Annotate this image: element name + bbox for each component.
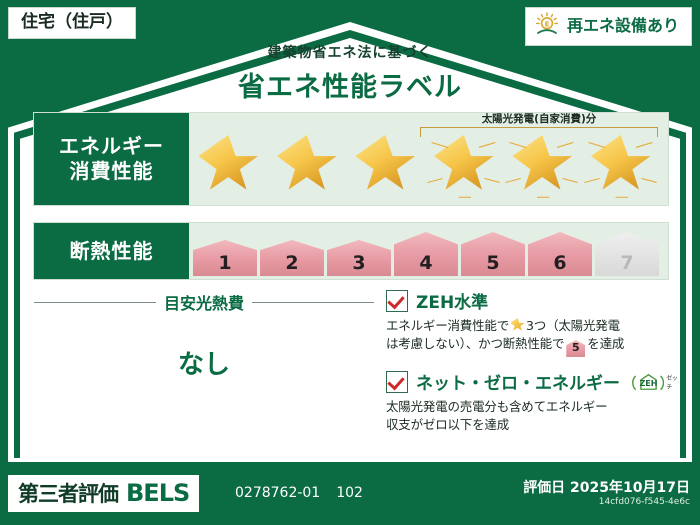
star-icon [197, 135, 259, 195]
svg-text:E: E [545, 20, 550, 28]
utility-cost-block: 目安光熱費 なし [34, 290, 374, 381]
star-rating: ＼ ／ ＼ ／ ＿ ＼ ／ ＼ ／ ＿ ＼ ／ [189, 129, 660, 201]
certificate-number-group: 0278762-01102 [235, 485, 363, 501]
star-icon [511, 135, 573, 195]
energy-label-line1: エネルギー [59, 134, 164, 159]
criteria-zeh-standard: ZEH水準 エネルギー消費性能で3つ（太陽光発電 は考慮しない）、かつ断熱性能で… [386, 288, 676, 357]
zeh-standard-header: ZEH水準 [386, 288, 676, 313]
star-item [189, 129, 268, 201]
renewable-badge-label: 再エネ設備あり [567, 17, 679, 35]
zeh-desc-part1: エネルギー消費性能で [386, 318, 509, 333]
sparkle-icon: ＿ [616, 183, 628, 200]
bels-brand-label: BELS [126, 479, 189, 507]
zeh-desc-part4: を達成 [587, 336, 624, 351]
insulation-level-item: 5 [461, 232, 525, 276]
star-item-solar: ＼ ／ ＼ ／ ＿ [582, 129, 661, 201]
rule-left [34, 302, 156, 303]
certificate-number: 0278762-01 [235, 485, 320, 501]
house-level-active-icon: 4 [394, 232, 458, 276]
building-type-tag: 住宅（住戸） [8, 7, 136, 39]
utility-cost-value: なし [34, 344, 374, 381]
star-item-solar: ＼ ／ ＼ ／ ＿ [503, 129, 582, 201]
solar-bracket: 太陽光発電(自家消費)分 [420, 114, 658, 137]
insulation-level-item: 2 [260, 240, 324, 276]
renewable-equipment-badge: E 再エネ設備あり [525, 7, 692, 46]
insulation-level-item: 1 [193, 240, 257, 276]
sparkle-icon: ／ [560, 171, 581, 190]
footer-bar: 第三者評価 BELS 0278762-01102 評価日 2025年10月17日… [0, 463, 700, 525]
star-icon [433, 135, 495, 195]
solar-bracket-label: 太陽光発電(自家消費)分 [420, 114, 658, 126]
evaluation-date: 評価日 2025年10月17日 [523, 477, 690, 497]
rule-right [252, 302, 374, 303]
criteria-net-zero-energy: ネット・ゼロ・エネルギー ZEH ゼッチ 太陽光発電の売電分も含めてエネルギー … [386, 369, 676, 434]
insulation-level-item: 7 [595, 232, 659, 276]
bels-energy-label: 住宅（住戸） E 再エネ設備あり 建築物省エネ法に基づく [0, 0, 700, 525]
utility-cost-heading: 目安光熱費 [34, 290, 374, 314]
house-level-active-icon: 2 [260, 240, 324, 276]
net-zero-header: ネット・ゼロ・エネルギー ZEH ゼッチ [386, 369, 676, 394]
star-item [346, 129, 425, 201]
net-zero-desc-part1: 太陽光発電の売電分も含めてエネルギー [386, 399, 607, 414]
sparkle-icon: ＿ [537, 183, 549, 200]
checkbox-checked-icon[interactable] [386, 371, 408, 393]
house-level-icon: 5 [566, 340, 585, 357]
zeh-standard-title: ZEH水準 [416, 288, 488, 313]
energy-performance-body: 太陽光発電(自家消費)分 ＼ ／ ＼ ／ ＿ ＼ ／ [189, 113, 668, 205]
star-item-solar: ＼ ／ ＼ ／ ＿ [425, 129, 504, 201]
insulation-performance-row: 断熱性能 1234567 [33, 222, 669, 280]
solar-sun-icon: E [534, 12, 560, 40]
zeh-desc-part2: 3つ（太陽光発電 [526, 318, 620, 333]
insulation-level-item: 6 [528, 232, 592, 276]
net-zero-description: 太陽光発電の売電分も含めてエネルギー 収支がゼロ以下を達成 [386, 398, 676, 434]
zeh-house-logo-icon: ZEH ゼッチ [632, 370, 680, 394]
energy-performance-row: エネルギー 消費性能 太陽光発電(自家消費)分 ＼ ／ ＼ ／ ＿ [33, 112, 669, 206]
third-party-eval-label: 第三者評価 [18, 478, 118, 508]
house-level-active-icon: 3 [327, 240, 391, 276]
house-level-active-icon: 5 [461, 232, 525, 276]
sparkle-icon: ＼ [503, 171, 524, 190]
net-zero-desc-part2: 収支がゼロ以下を達成 [386, 417, 509, 432]
insulation-performance-label: 断熱性能 [34, 223, 189, 279]
solar-bracket-line [420, 127, 658, 137]
house-level-active-icon: 6 [528, 232, 592, 276]
house-level-active-icon: 1 [193, 240, 257, 276]
house-level-inactive-icon: 7 [595, 232, 659, 276]
insulation-level-item: 4 [394, 232, 458, 276]
criteria-blocks: ZEH水準 エネルギー消費性能で3つ（太陽光発電 は考慮しない）、かつ断熱性能で… [386, 288, 676, 434]
sparkle-icon: ＿ [459, 183, 471, 200]
zeh-standard-description: エネルギー消費性能で3つ（太陽光発電 は考慮しない）、かつ断熱性能で5を達成 [386, 317, 676, 357]
zeh-logo-ruby: ゼッチ [666, 373, 679, 391]
star-icon [276, 135, 338, 195]
sparkle-icon: ／ [639, 171, 660, 190]
unit-number: 102 [336, 485, 363, 501]
insulation-level-list: 1234567 [193, 232, 659, 276]
insulation-level-item: 3 [327, 240, 391, 276]
star-item [268, 129, 347, 201]
bels-logo-box: 第三者評価 BELS [8, 475, 199, 512]
insulation-performance-body: 1234567 [189, 223, 668, 279]
page-title: 省エネ性能ラベル [0, 65, 700, 104]
net-zero-title: ネット・ゼロ・エネルギー [416, 369, 620, 394]
svg-text:ZEH: ZEH [639, 379, 657, 388]
star-icon [590, 135, 652, 195]
utility-cost-title: 目安光熱費 [164, 290, 244, 314]
sparkle-icon: ＼ [581, 171, 602, 190]
zeh-desc-part3: は考慮しない）、かつ断熱性能で [386, 336, 564, 351]
sparkle-icon: ＼ [424, 171, 445, 190]
label-header: 建築物省エネ法に基づく 省エネ性能ラベル [0, 42, 700, 104]
energy-label-line2: 消費性能 [70, 159, 154, 184]
sparkle-icon: ／ [482, 171, 503, 190]
star-icon [354, 135, 416, 195]
star-icon [510, 318, 525, 332]
evaluation-hash: 14cfd076-f545-4e6c [599, 497, 690, 507]
energy-performance-label: エネルギー 消費性能 [34, 113, 189, 205]
checkbox-checked-icon[interactable] [386, 290, 408, 312]
